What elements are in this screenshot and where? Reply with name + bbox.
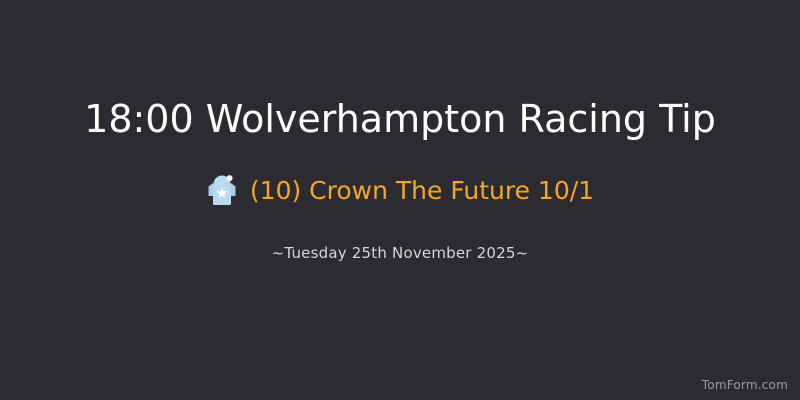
racing-silks-icon: [206, 174, 238, 208]
race-date: ~Tuesday 25th November 2025~: [272, 244, 529, 262]
selection-row: (10) Crown The Future 10/1: [206, 174, 594, 208]
racing-tip-card: 18:00 Wolverhampton Racing Tip (10) Crow…: [0, 0, 800, 400]
selection-label: (10) Crown The Future 10/1: [250, 176, 594, 206]
page-title: 18:00 Wolverhampton Racing Tip: [84, 97, 716, 141]
site-watermark: TomForm.com: [702, 378, 788, 392]
